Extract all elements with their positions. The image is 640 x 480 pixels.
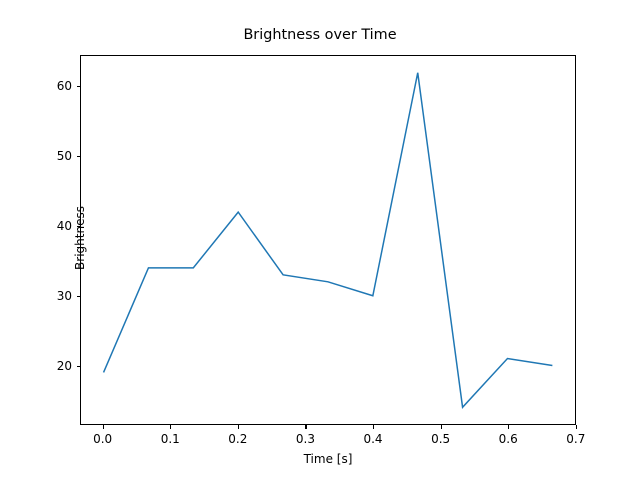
x-tick-label: 0.1 bbox=[161, 432, 180, 446]
x-tick-label: 0.3 bbox=[296, 432, 315, 446]
x-tick-label: 0.2 bbox=[228, 432, 247, 446]
y-axis-label: Brightness bbox=[73, 158, 87, 318]
x-tick-mark bbox=[441, 425, 442, 429]
y-tick-mark bbox=[77, 366, 81, 367]
chart-figure: Brightness over Time 0.00.10.20.30.40.50… bbox=[0, 0, 640, 480]
x-tick-label: 0.7 bbox=[566, 432, 585, 446]
y-tick-label: 20 bbox=[34, 359, 72, 373]
x-axis-label: Time [s] bbox=[80, 452, 576, 466]
brightness-line bbox=[104, 73, 553, 408]
x-tick-mark bbox=[305, 425, 306, 429]
x-tick-label: 0.4 bbox=[363, 432, 382, 446]
x-tick-mark bbox=[103, 425, 104, 429]
y-tick-mark bbox=[77, 86, 81, 87]
x-tick-mark bbox=[373, 425, 374, 429]
x-tick-label: 0.6 bbox=[499, 432, 518, 446]
y-tick-label: 40 bbox=[34, 219, 72, 233]
x-tick-mark bbox=[170, 425, 171, 429]
x-tick-label: 0.0 bbox=[93, 432, 112, 446]
x-tick-mark bbox=[508, 425, 509, 429]
chart-title: Brightness over Time bbox=[0, 27, 640, 43]
x-tick-mark bbox=[576, 425, 577, 429]
y-tick-mark bbox=[77, 156, 81, 157]
line-series-svg bbox=[81, 56, 575, 424]
x-tick-label: 0.5 bbox=[431, 432, 450, 446]
y-tick-label: 50 bbox=[34, 149, 72, 163]
x-tick-mark bbox=[238, 425, 239, 429]
y-tick-label: 30 bbox=[34, 289, 72, 303]
y-tick-label: 60 bbox=[34, 79, 72, 93]
plot-area bbox=[80, 55, 576, 425]
